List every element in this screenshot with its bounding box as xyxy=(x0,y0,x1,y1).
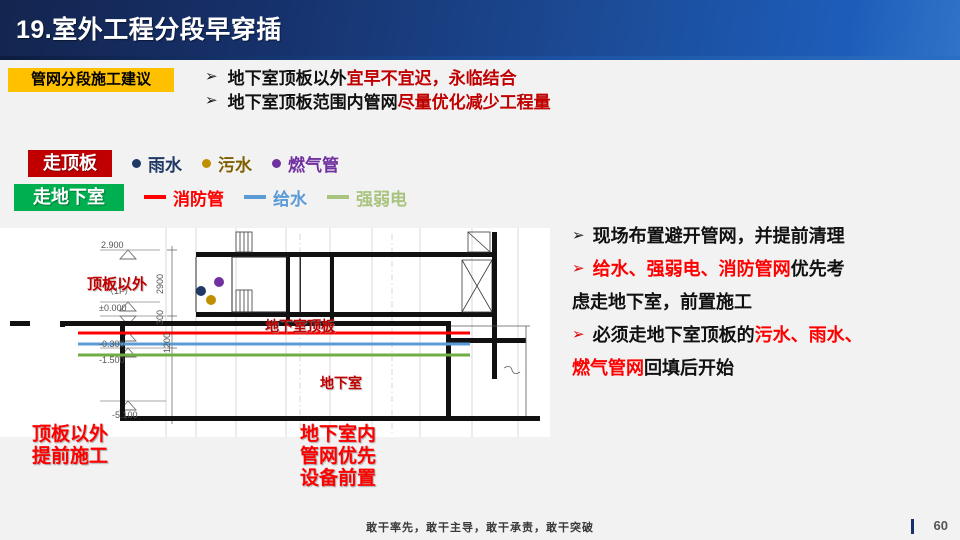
line-icon xyxy=(244,195,266,199)
note-bullet-2-red: 尽量优化减少工程量 xyxy=(398,93,551,112)
right-note-1: ➢ 现场布置避开管网，并提前清理 xyxy=(572,222,958,250)
svg-text:300: 300 xyxy=(155,310,165,325)
right-note-3-black: 必须走地下室顶板的 xyxy=(593,325,755,345)
arrow-icon: ➢ xyxy=(572,255,585,283)
legend-label-rainwater: 雨水 xyxy=(148,151,182,176)
legend-item-water: 给水 xyxy=(244,185,307,210)
svg-text:-0.300: -0.300 xyxy=(99,339,125,349)
pipe-dot-gas xyxy=(214,277,224,287)
arrow-icon: ➢ xyxy=(572,222,585,250)
right-note-3-cont-black: 回填后开始 xyxy=(644,358,734,378)
label-outside-slab: 顶板以外 xyxy=(87,273,147,294)
right-note-2: ➢ 给水、强弱电、消防管网优先考 xyxy=(572,255,958,283)
legend-label-water: 给水 xyxy=(273,185,307,210)
dot-icon xyxy=(202,159,211,168)
footer-slogan: 敢干率先，敢干主导，敢干承责，敢干突破 xyxy=(0,519,960,535)
legend-row-basement: 走地下室 消防管 给水 强弱电 xyxy=(0,180,560,214)
arrow-icon: ➢ xyxy=(205,91,218,109)
legend-label-sewage: 污水 xyxy=(218,151,252,176)
legend-row-roof: 走顶板 雨水 污水 燃气管 xyxy=(0,146,560,180)
right-note-2-red: 给水、强弱电、消防管网 xyxy=(593,259,791,279)
legend-label-power: 强弱电 xyxy=(356,185,407,210)
header-underline xyxy=(0,56,960,60)
label-basement: 地下室 xyxy=(320,373,362,393)
legend-item-fire: 消防管 xyxy=(144,185,224,210)
legend-badge-basement: 走地下室 xyxy=(14,184,124,211)
right-note-2-cont: 虑走地下室，前置施工 xyxy=(572,288,958,316)
page-title: 19.室外工程分段早穿插 xyxy=(16,10,282,46)
svg-text:2900: 2900 xyxy=(155,274,165,294)
annotation-right-line-3: 设备前置 xyxy=(300,468,376,490)
svg-text:±0.000: ±0.000 xyxy=(99,303,126,313)
slide-root: 19.室外工程分段早穿插 管网分段施工建议 ➢ 地下室顶板以外宜早不宜迟，永临结… xyxy=(0,0,960,540)
note-bullet-2-text: 地下室顶板范围内管网尽量优化减少工程量 xyxy=(228,88,551,113)
right-note-3: ➢ 必须走地下室顶板的污水、雨水、 xyxy=(572,321,958,349)
note-bullet-1-black: 地下室顶板以外 xyxy=(228,69,347,88)
right-note-2-text: 给水、强弱电、消防管网优先考 xyxy=(593,255,845,283)
pipe-dot-rainwater xyxy=(196,286,206,296)
right-note-3-red: 污水、雨水、 xyxy=(755,325,863,345)
annotation-left-line-1: 顶板以外 xyxy=(32,424,108,446)
section-drawing-panel: 2.900 （1F） ±0.000 -0.300 -1.500 -5.100 2… xyxy=(0,228,550,437)
annotation-right: 地下室内 管网优先 设备前置 xyxy=(300,424,376,490)
annotation-left-line-2: 提前施工 xyxy=(32,446,108,468)
annotation-right-line-2: 管网优先 xyxy=(300,446,376,468)
right-note-3-cont: 燃气管网回填后开始 xyxy=(572,354,958,382)
note-bullet-1: ➢ 地下室顶板以外宜早不宜迟，永临结合 xyxy=(205,64,945,88)
right-note-3-text: 必须走地下室顶板的污水、雨水、 xyxy=(593,321,863,349)
svg-text:-1.500: -1.500 xyxy=(99,355,125,365)
legend-item-power: 强弱电 xyxy=(327,185,407,210)
note-bullet-1-red: 宜早不宜迟，永临结合 xyxy=(347,69,517,88)
dot-icon xyxy=(132,159,141,168)
legend-item-rainwater: 雨水 xyxy=(132,151,182,176)
note-bullet-1-text: 地下室顶板以外宜早不宜迟，永临结合 xyxy=(228,64,517,89)
label-basement-slab: 地下室顶板 xyxy=(265,316,335,336)
annotation-right-line-1: 地下室内 xyxy=(300,424,376,446)
note-bullet-list: ➢ 地下室顶板以外宜早不宜迟，永临结合 ➢ 地下室顶板范围内管网尽量优化减少工程… xyxy=(205,64,945,112)
note-bullet-2: ➢ 地下室顶板范围内管网尽量优化减少工程量 xyxy=(205,88,945,112)
right-notes-panel: ➢ 现场布置避开管网，并提前清理 ➢ 给水、强弱电、消防管网优先考 虑走地下室，… xyxy=(572,222,958,387)
svg-text:2.900: 2.900 xyxy=(101,240,124,250)
arrow-icon: ➢ xyxy=(572,321,585,349)
legend-item-sewage: 污水 xyxy=(202,151,252,176)
right-note-2-black: 优先考 xyxy=(791,259,845,279)
right-note-1-text: 现场布置避开管网，并提前清理 xyxy=(593,222,845,250)
annotation-left: 顶板以外 提前施工 xyxy=(32,424,108,468)
legend-item-gas: 燃气管 xyxy=(272,151,339,176)
svg-text:-5.100: -5.100 xyxy=(112,410,138,420)
note-bullet-2-black: 地下室顶板范围内管网 xyxy=(228,93,398,112)
svg-text:1200: 1200 xyxy=(162,333,172,353)
page-number-divider xyxy=(911,519,914,534)
right-note-3-cont-red: 燃气管网 xyxy=(572,358,644,378)
pipe-legend: 走顶板 雨水 污水 燃气管 走地下室 消防管 给水 xyxy=(0,146,560,214)
arrow-icon: ➢ xyxy=(205,67,218,85)
page-number: 60 xyxy=(934,518,948,533)
dot-icon xyxy=(272,159,281,168)
line-icon xyxy=(327,195,349,199)
pipe-dot-sewage xyxy=(206,295,216,305)
line-icon xyxy=(144,195,166,199)
note-tag-badge: 管网分段施工建议 xyxy=(8,68,174,92)
legend-badge-roof: 走顶板 xyxy=(28,150,112,177)
legend-label-fire: 消防管 xyxy=(173,185,224,210)
legend-label-gas: 燃气管 xyxy=(288,151,339,176)
